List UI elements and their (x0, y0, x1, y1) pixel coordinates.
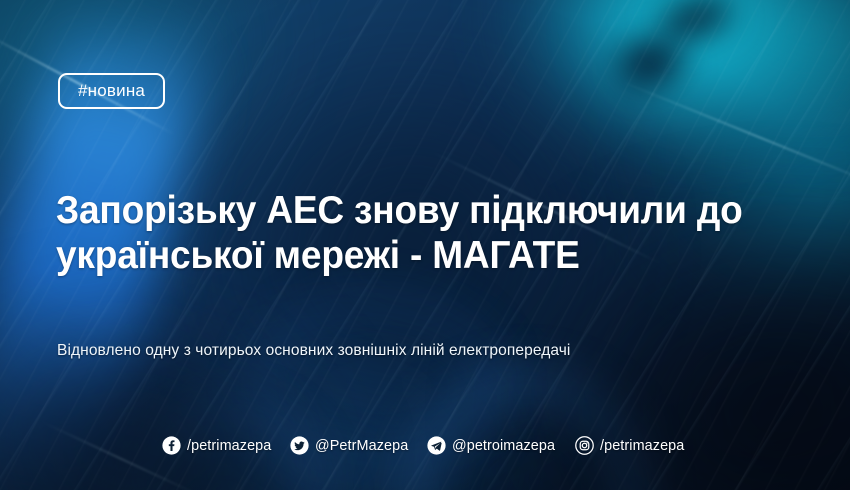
subtitle: Відновлено одну з чотирьох основних зовн… (57, 341, 775, 362)
social-item-telegram[interactable]: @petroimazepa (427, 436, 559, 455)
social-handle-twitter: @PetrMazepa (315, 437, 408, 454)
twitter-icon (290, 436, 309, 455)
social-item-facebook[interactable]: /petrimazepa (162, 436, 275, 455)
news-social-card: #новина Запорізьку АЕС знову підключили … (0, 0, 850, 490)
instagram-icon (575, 436, 594, 455)
category-badge[interactable]: #новина (58, 73, 165, 109)
telegram-icon (427, 436, 446, 455)
social-handle-telegram: @petroimazepa (452, 437, 555, 454)
social-item-instagram[interactable]: /petrimazepa (575, 436, 688, 455)
social-handle-instagram: /petrimazepa (600, 437, 684, 454)
facebook-icon (162, 436, 181, 455)
social-handles-bar: /petrimazepa @PetrMazepa @petroimazepa (0, 436, 850, 455)
social-item-twitter[interactable]: @PetrMazepa (290, 436, 412, 455)
card-content: #новина Запорізьку АЕС знову підключили … (0, 0, 850, 490)
headline: Запорізьку АЕС знову підключили до украї… (56, 188, 778, 278)
social-handle-facebook: /petrimazepa (187, 437, 271, 454)
